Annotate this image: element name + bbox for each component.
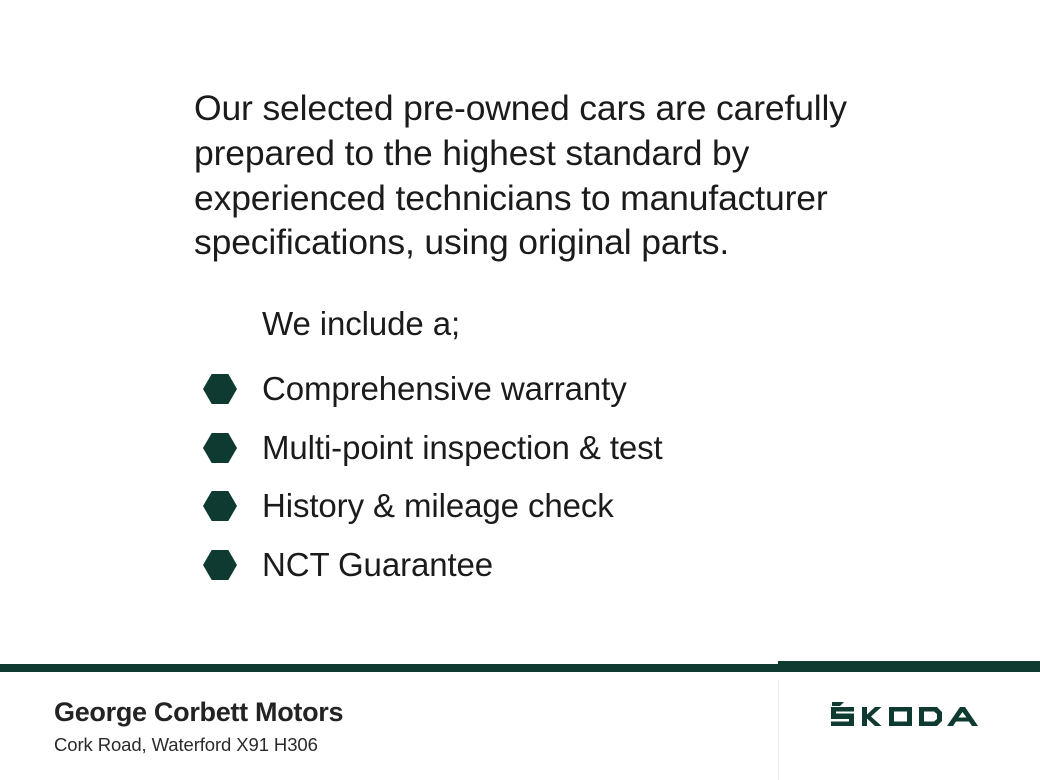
list-item-label: NCT Guarantee <box>262 545 493 585</box>
hexagon-bullet-icon <box>203 374 237 404</box>
page-title: Our selected pre-owned cars are carefull… <box>194 86 884 265</box>
footer-accent-bar <box>0 664 1040 672</box>
list-item-label: Multi-point inspection & test <box>262 428 663 468</box>
slide-content: Our selected pre-owned cars are carefull… <box>0 0 1040 660</box>
list-item-label: History & mileage check <box>262 486 614 526</box>
hexagon-bullet-icon <box>203 433 237 463</box>
dealer-name: George Corbett Motors <box>54 696 343 728</box>
hexagon-bullet-icon <box>203 550 237 580</box>
hexagon-bullet-icon <box>203 491 237 521</box>
footer: George Corbett Motors Cork Road, Waterfo… <box>0 672 1040 780</box>
dealer-address: Cork Road, Waterford X91 H306 <box>54 734 318 756</box>
skoda-wordmark-logo <box>831 698 987 730</box>
promo-slide: Our selected pre-owned cars are carefull… <box>0 0 1040 780</box>
list-item-label: Comprehensive warranty <box>262 369 627 409</box>
include-label: We include a; <box>262 303 460 345</box>
footer-divider <box>778 680 779 780</box>
